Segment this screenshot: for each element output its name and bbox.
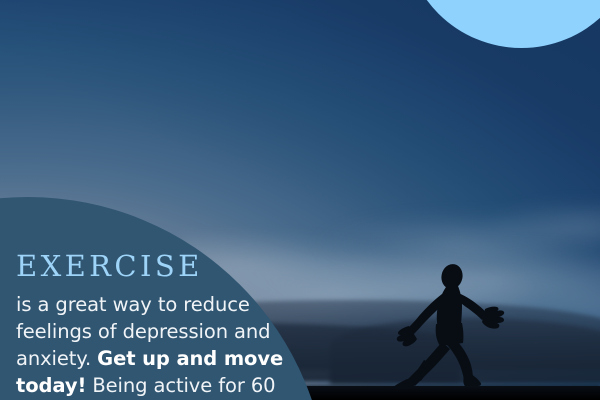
body-paragraph: is a great way to reduce feelings of dep… bbox=[16, 291, 308, 400]
poster-copy: EXERCISE is a great way to reduce feelin… bbox=[16, 252, 308, 400]
running-person-silhouette-icon bbox=[368, 262, 538, 392]
page-title: EXERCISE bbox=[16, 252, 308, 282]
poster-canvas: EXERCISE is a great way to reduce feelin… bbox=[0, 0, 600, 400]
body-text-tail: Being active for 60 bbox=[86, 374, 275, 397]
